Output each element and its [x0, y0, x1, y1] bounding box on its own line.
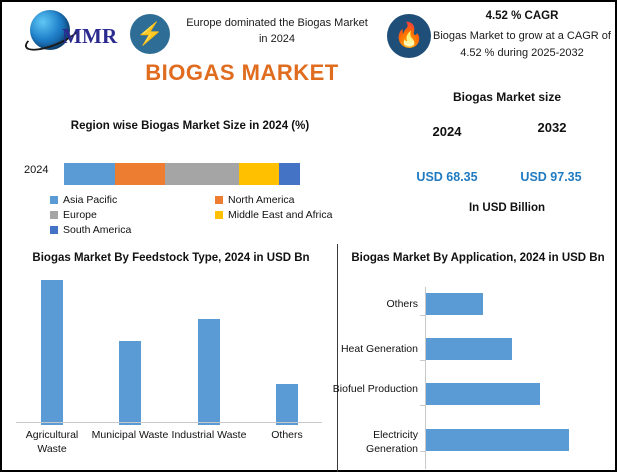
feedstock-chart-title: Biogas Market By Feedstock Type, 2024 in…: [16, 250, 326, 267]
application-label: Heat Generation: [322, 343, 418, 357]
legend-item: Middle East and Africa: [215, 209, 360, 221]
brand-name: MMR: [62, 24, 117, 49]
legend-label: Asia Pacific: [63, 194, 117, 206]
legend-label: Europe: [63, 209, 97, 221]
market-size-forecast-year: 2032: [507, 120, 597, 135]
region-chart-title: Region wise Biogas Market Size in 2024 (…: [10, 120, 370, 132]
feedstock-x-axis: [16, 422, 322, 423]
region-legend: Asia PacificNorth AmericaEuropeMiddle Ea…: [50, 192, 360, 237]
region-segment: [165, 163, 239, 185]
legend-swatch: [215, 196, 223, 204]
feedstock-category-labels: Agricultural WasteMunicipal WasteIndustr…: [16, 428, 326, 472]
application-axis-tick: [420, 451, 425, 452]
bolt-glyph: ⚡: [130, 14, 170, 54]
market-size-forecast-value: USD 97.35: [502, 170, 600, 184]
feedstock-label: Others: [248, 428, 326, 442]
feedstock-bar: [198, 319, 220, 425]
region-stacked-bar: [64, 163, 300, 185]
region-segment: [279, 163, 300, 185]
bolt-icon: ⚡: [130, 14, 170, 54]
legend-label: Middle East and Africa: [228, 209, 332, 221]
application-bar: [426, 429, 569, 451]
legend-item: Asia Pacific: [50, 194, 215, 206]
flame-glyph: 🔥: [387, 14, 431, 58]
cagr-subtext: Biogas Market to grow at a CAGR of 4.52 …: [432, 28, 612, 61]
legend-swatch: [50, 211, 58, 219]
application-label: Biofuel Production: [322, 383, 418, 397]
infographic-root: MMR ⚡ Europe dominated the Biogas Market…: [0, 0, 617, 472]
legend-row: South America: [50, 222, 360, 237]
market-size-base-value: USD 68.35: [402, 170, 492, 184]
application-axis-tick: [420, 405, 425, 406]
application-axis-tick: [420, 315, 425, 316]
feedstock-label: Industrial Waste: [170, 428, 248, 442]
legend-row: Asia PacificNorth America: [50, 192, 360, 207]
header-note: Europe dominated the Biogas Market in 20…: [182, 16, 372, 48]
application-axis-tick: [420, 360, 425, 361]
legend-swatch: [50, 226, 58, 234]
feedstock-bar: [119, 341, 141, 425]
application-label: Others: [322, 298, 418, 312]
region-segment: [239, 163, 279, 185]
feedstock-bar: [41, 280, 63, 425]
legend-label: North America: [228, 194, 295, 206]
region-segment: [115, 163, 165, 185]
market-size-base-year: 2024: [407, 124, 487, 139]
feedstock-label: Agricultural Waste: [13, 428, 91, 456]
feedstock-label: Municipal Waste: [91, 428, 169, 442]
application-bar: [426, 338, 512, 360]
application-bar: [426, 293, 483, 315]
legend-item: South America: [50, 224, 215, 236]
legend-swatch: [50, 196, 58, 204]
flame-icon: 🔥: [387, 14, 431, 58]
page-title: BIOGAS MARKET: [112, 60, 372, 86]
legend-row: EuropeMiddle East and Africa: [50, 207, 360, 222]
legend-swatch: [215, 211, 223, 219]
region-row-label: 2024: [24, 164, 48, 176]
application-bar: [426, 383, 540, 405]
region-segment: [64, 163, 115, 185]
legend-label: South America: [63, 224, 131, 236]
feedstock-plot-area: [16, 270, 326, 425]
market-size-unit: In USD Billion: [402, 202, 612, 214]
cagr-heading: 4.52 % CAGR: [432, 10, 612, 22]
market-size-heading: Biogas Market size: [402, 90, 612, 104]
application-chart-title: Biogas Market By Application, 2024 in US…: [347, 250, 609, 267]
application-label: Electricity Generation: [322, 429, 418, 456]
legend-item: Europe: [50, 209, 215, 221]
feedstock-bar: [276, 384, 298, 425]
legend-item: North America: [215, 194, 360, 206]
